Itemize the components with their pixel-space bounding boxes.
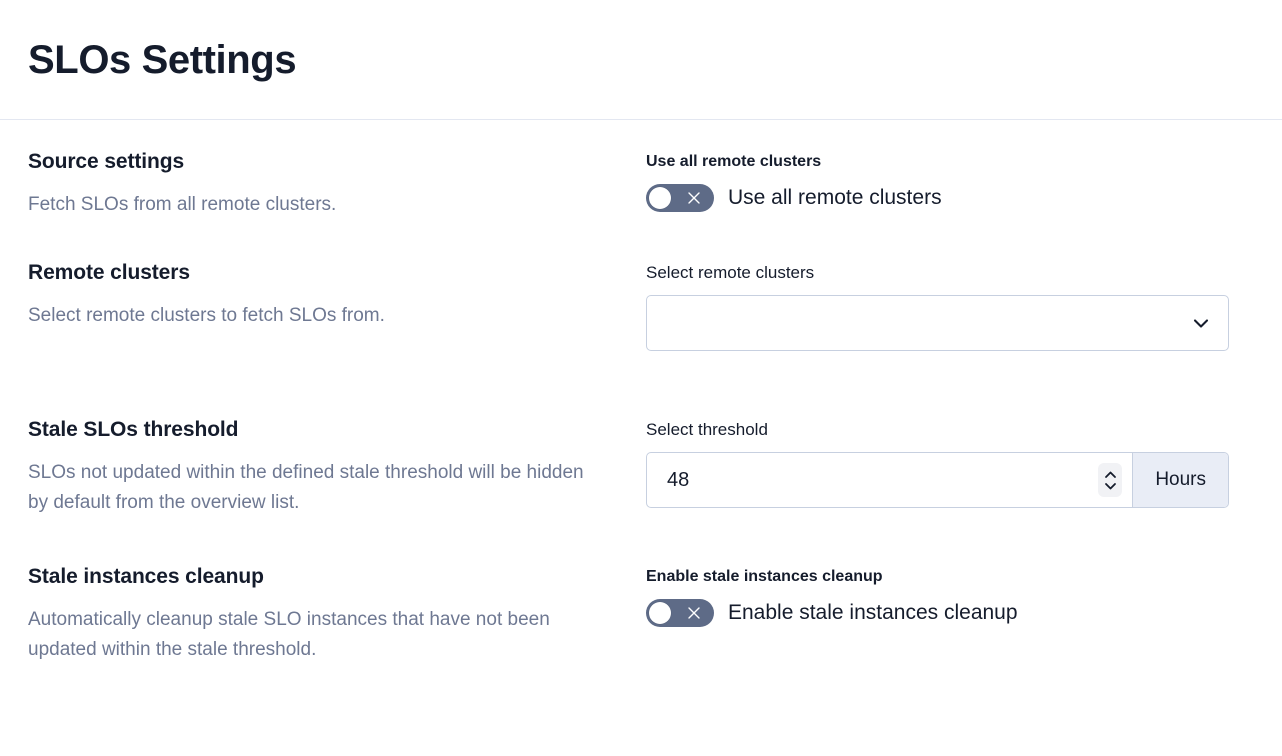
settings-section-stale-instances-cleanup: Stale instances cleanup Automatically cl… [28,565,1254,665]
section-desc-source-settings: Fetch SLOs from all remote clusters. [28,190,603,220]
settings-form: Source settings Fetch SLOs from all remo… [0,120,1282,665]
section-control-block: Enable stale instances cleanup Enable st… [646,565,1254,627]
spinner-up-down-icon[interactable] [1098,463,1122,497]
select-remote-clusters[interactable] [646,295,1229,351]
field-label-select-threshold: Select threshold [646,420,1254,440]
toggle-knob [649,187,671,209]
toggle-enable-stale-instances-cleanup[interactable] [646,599,714,627]
section-heading-stale-instances-cleanup: Stale instances cleanup [28,565,622,589]
close-x-icon [674,599,714,627]
close-x-icon [674,184,714,212]
toggle-use-all-remote-clusters[interactable] [646,184,714,212]
toggle-knob [649,602,671,624]
settings-section-remote-clusters: Remote clusters Select remote clusters t… [28,261,1254,351]
section-description-block: Remote clusters Select remote clusters t… [28,261,646,331]
section-description-block: Stale SLOs threshold SLOs not updated wi… [28,418,646,518]
section-desc-stale-slos-threshold: SLOs not updated within the defined stal… [28,458,603,518]
field-label-enable-stale-instances-cleanup: Enable stale instances cleanup [646,567,1254,587]
toggle-label-enable-stale-instances-cleanup[interactable]: Enable stale instances cleanup [728,600,1018,626]
toggle-label-use-all-remote-clusters[interactable]: Use all remote clusters [728,185,942,211]
settings-section-source-settings: Source settings Fetch SLOs from all remo… [28,150,1254,220]
threshold-number-field[interactable] [647,453,1132,507]
settings-section-stale-slos-threshold: Stale SLOs threshold SLOs not updated wi… [28,418,1254,518]
field-label-select-remote-clusters: Select remote clusters [646,263,1254,283]
section-desc-remote-clusters: Select remote clusters to fetch SLOs fro… [28,301,603,331]
section-desc-stale-instances-cleanup: Automatically cleanup stale SLO instance… [28,605,603,665]
page-header: SLOs Settings [0,0,1282,120]
section-description-block: Source settings Fetch SLOs from all remo… [28,150,646,220]
section-control-block: Select threshold Hours [646,418,1254,508]
threshold-unit-addon: Hours [1132,453,1228,507]
chevron-down-icon[interactable] [1190,312,1212,334]
section-description-block: Stale instances cleanup Automatically cl… [28,565,646,665]
toggle-row-enable-stale-instances-cleanup: Enable stale instances cleanup [646,599,1254,627]
threshold-input[interactable] [667,469,1088,492]
section-heading-source-settings: Source settings [28,150,622,174]
section-heading-remote-clusters: Remote clusters [28,261,622,285]
toggle-row-use-all-remote-clusters: Use all remote clusters [646,184,1254,212]
field-label-use-all-remote-clusters: Use all remote clusters [646,152,1254,172]
section-control-block: Use all remote clusters Use all remote c… [646,150,1254,212]
section-heading-stale-slos-threshold: Stale SLOs threshold [28,418,622,442]
threshold-input-group: Hours [646,452,1229,508]
section-control-block: Select remote clusters [646,261,1254,351]
page-title: SLOs Settings [28,38,296,82]
